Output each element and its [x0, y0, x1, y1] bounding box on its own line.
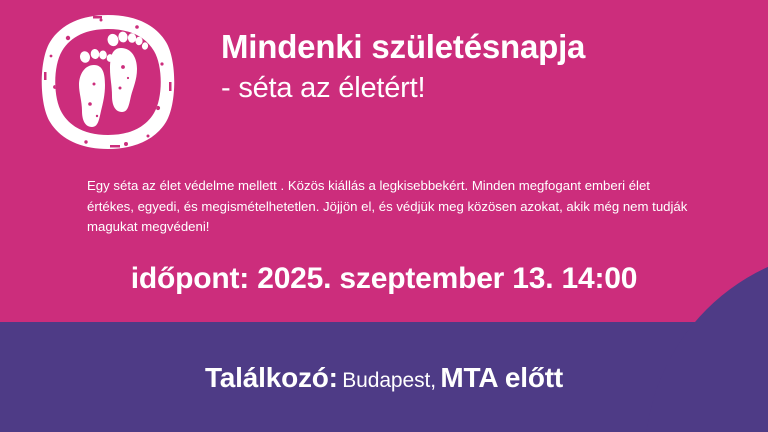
- meeting-point-city: Budapest,: [342, 369, 436, 392]
- page-title: Mindenki születésnapja: [221, 26, 741, 68]
- description-paragraph: Egy séta az élet védelme mellett . Közös…: [87, 176, 697, 238]
- page-subtitle: - séta az életért!: [221, 68, 741, 108]
- event-banner: Mindenki születésnapja - séta az életért…: [0, 0, 768, 432]
- meeting-point-label: Találkozó:: [205, 362, 338, 393]
- event-time-line: időpont: 2025. szeptember 13. 14:00: [0, 262, 768, 296]
- meeting-point-place: MTA előtt: [440, 362, 563, 393]
- headline-block: Mindenki születésnapja - séta az életért…: [221, 26, 741, 108]
- meeting-point-line: Találkozó: Budapest, MTA előtt: [0, 362, 768, 394]
- baby-footprints-circle-logo: [38, 12, 178, 152]
